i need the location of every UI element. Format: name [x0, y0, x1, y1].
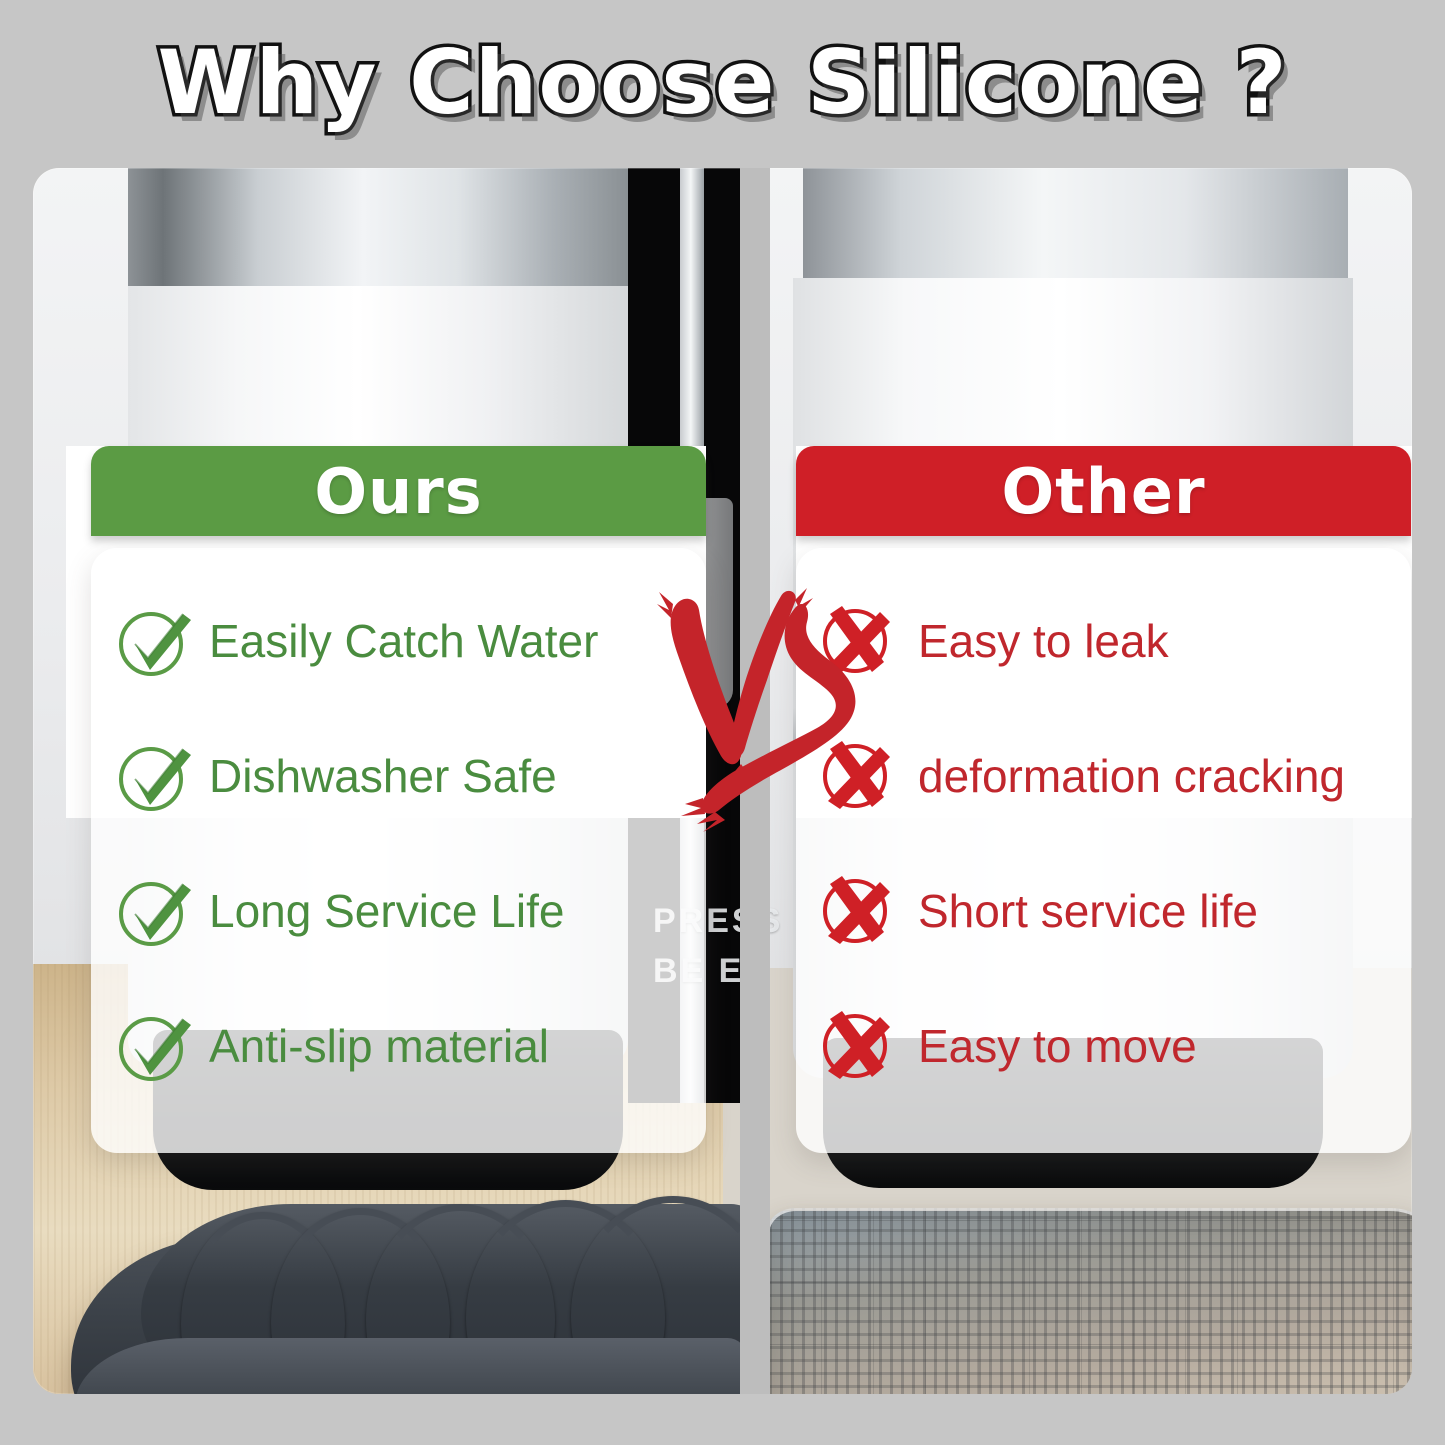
comparison-photo-frame: PRESS CUP BE E HOT SURING SUPLANCE OUTBE… — [33, 168, 1412, 1394]
ours-header-pill: Ours — [91, 446, 706, 536]
tray-lip — [75, 1338, 747, 1394]
list-item: Anti-slip material — [91, 978, 711, 1113]
list-item: Easy to move — [796, 978, 1412, 1113]
list-item-label: Long Service Life — [209, 884, 564, 938]
other-header-pill: Other — [796, 446, 1411, 536]
list-item: Easy to leak — [796, 573, 1412, 708]
coffee-machine-left-top — [128, 168, 628, 298]
cross-circle-icon — [814, 735, 896, 817]
cross-circle-icon — [814, 1005, 896, 1087]
list-item-label: Easy to move — [918, 1019, 1197, 1073]
list-item-label: Short service life — [918, 884, 1258, 938]
list-item-label: Easily Catch Water — [209, 614, 598, 668]
ours-header-label: Ours — [314, 455, 482, 528]
list-item: Easily Catch Water — [91, 573, 711, 708]
other-header-label: Other — [1001, 455, 1205, 528]
page-title: Why Choose Silicone ? — [157, 31, 1287, 134]
coffee-machine-right-top — [803, 168, 1348, 288]
other-feature-list: Easy to leak deformation cracking S — [796, 573, 1412, 1113]
check-circle-icon — [113, 870, 195, 952]
cross-circle-icon — [814, 870, 896, 952]
ours-feature-list: Easily Catch Water Dishwasher Safe L — [91, 573, 711, 1113]
list-item: Long Service Life — [91, 843, 711, 978]
list-item-label: Easy to leak — [918, 614, 1169, 668]
panel-divider — [740, 168, 770, 1394]
list-item: deformation cracking — [796, 708, 1412, 843]
list-item-label: Dishwasher Safe — [209, 749, 557, 803]
woven-fabric-mat — [766, 1208, 1412, 1394]
list-item: Dishwasher Safe — [91, 708, 711, 843]
check-circle-icon — [113, 600, 195, 682]
list-item: Short service life — [796, 843, 1412, 978]
title-bar: Why Choose Silicone ? — [0, 22, 1445, 142]
cross-circle-icon — [814, 600, 896, 682]
silicone-drip-tray — [71, 1188, 751, 1394]
check-circle-icon — [113, 1005, 195, 1087]
list-item-label: Anti-slip material — [209, 1019, 549, 1073]
check-circle-icon — [113, 735, 195, 817]
list-item-label: deformation cracking — [918, 749, 1345, 803]
